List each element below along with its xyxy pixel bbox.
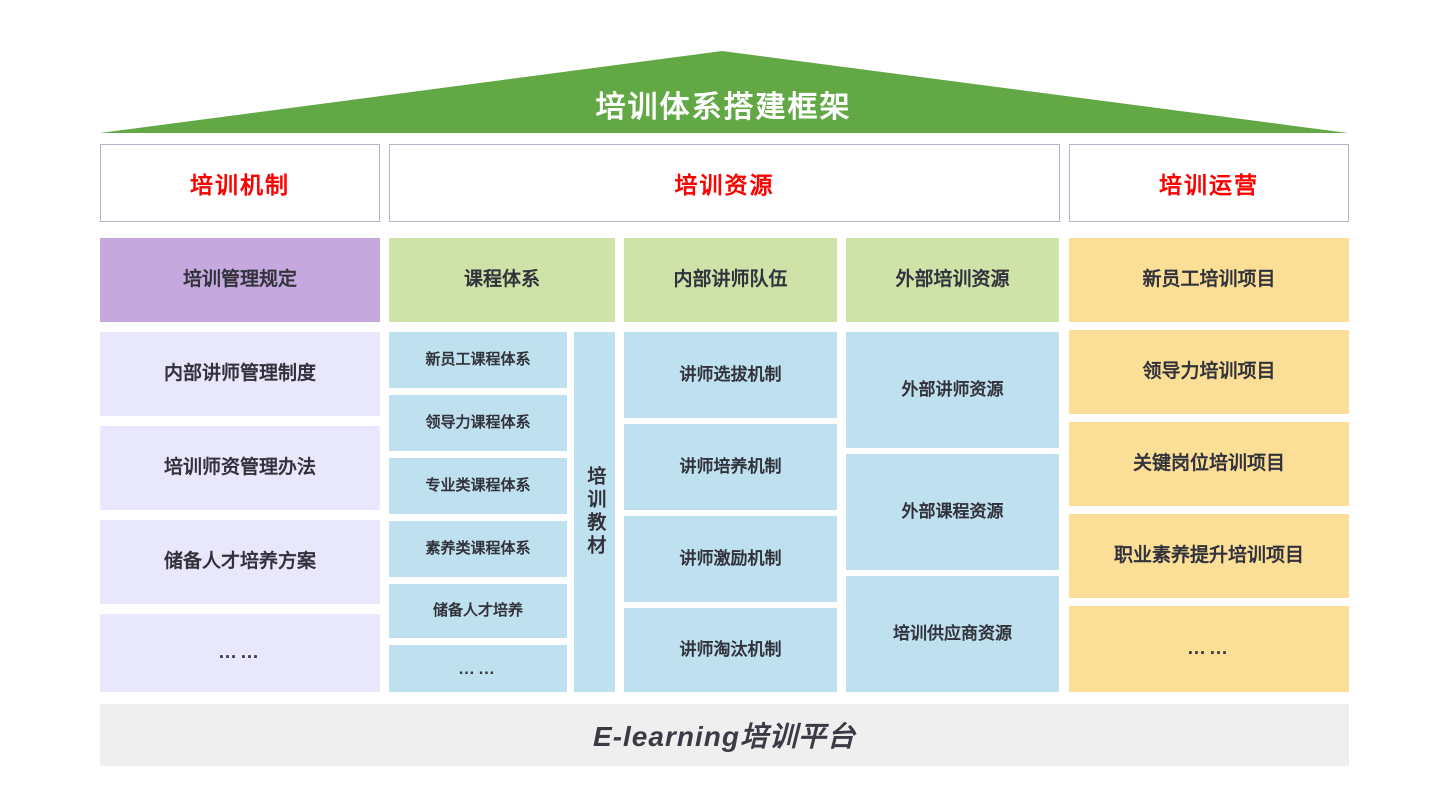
external-resources-item-0-label: 外部讲师资源 xyxy=(902,379,1004,400)
mechanism-item-2[interactable]: 培训师资管理办法 xyxy=(100,426,380,510)
course-system-header[interactable]: 课程体系 xyxy=(389,238,615,322)
mechanism-item-1[interactable]: 内部讲师管理制度 xyxy=(100,332,380,416)
course-system-item-5[interactable]: …… xyxy=(389,645,567,692)
operations-item-4[interactable]: …… xyxy=(1069,606,1349,692)
operations-item-1-label: 领导力培训项目 xyxy=(1142,360,1275,384)
mechanism-item-0-label: 培训管理规定 xyxy=(183,268,297,292)
external-resources-item-1[interactable]: 外部课程资源 xyxy=(846,454,1059,570)
internal-trainers-item-3-label: 讲师淘汰机制 xyxy=(680,639,782,660)
mechanism-item-1-label: 内部讲师管理制度 xyxy=(164,362,316,386)
internal-trainers-item-2[interactable]: 讲师激励机制 xyxy=(624,516,837,602)
internal-trainers-header-label: 内部讲师队伍 xyxy=(673,268,787,292)
header-box-mechanism[interactable]: 培训机制 xyxy=(100,144,380,222)
internal-trainers-header[interactable]: 内部讲师队伍 xyxy=(624,238,837,322)
external-resources-header-label: 外部培训资源 xyxy=(895,268,1009,292)
operations-item-2[interactable]: 关键岗位培训项目 xyxy=(1069,422,1349,506)
internal-trainers-item-2-label: 讲师激励机制 xyxy=(680,548,782,569)
external-resources-item-2[interactable]: 培训供应商资源 xyxy=(846,576,1059,692)
operations-item-0[interactable]: 新员工培训项目 xyxy=(1069,238,1349,322)
course-system-item-2-label: 专业类课程体系 xyxy=(425,477,530,496)
page-title: 培训体系搭建框架 xyxy=(0,82,1447,126)
course-system-item-3[interactable]: 素养类课程体系 xyxy=(389,521,567,577)
mechanism-item-4[interactable]: …… xyxy=(100,614,380,692)
internal-trainers-item-0[interactable]: 讲师选拔机制 xyxy=(624,332,837,418)
header-box-operations[interactable]: 培训运营 xyxy=(1069,144,1349,222)
external-resources-header[interactable]: 外部培训资源 xyxy=(846,238,1059,322)
course-system-item-1[interactable]: 领导力课程体系 xyxy=(389,395,567,451)
header-label-operations: 培训运营 xyxy=(1159,166,1259,200)
course-system-item-4[interactable]: 储备人才培养 xyxy=(389,584,567,638)
course-system-item-0[interactable]: 新员工课程体系 xyxy=(389,332,567,388)
elearning-platform-bar[interactable]: E-learning培训平台 xyxy=(100,704,1349,766)
mechanism-item-4-label: …… xyxy=(218,641,262,665)
mechanism-item-3-label: 储备人才培养方案 xyxy=(164,550,316,574)
course-system-item-0-label: 新员工课程体系 xyxy=(425,351,530,370)
operations-item-2-label: 关键岗位培训项目 xyxy=(1133,452,1285,476)
operations-item-3[interactable]: 职业素养提升培训项目 xyxy=(1069,514,1349,598)
operations-item-4-label: …… xyxy=(1187,637,1231,661)
course-system-header-label: 课程体系 xyxy=(464,268,540,292)
header-box-resources[interactable]: 培训资源 xyxy=(389,144,1060,222)
training-materials-side-block[interactable]: 培训教材 xyxy=(574,332,615,692)
course-system-item-4-label: 储备人才培养 xyxy=(433,602,523,621)
course-system-item-5-label: …… xyxy=(458,658,498,679)
external-resources-item-0[interactable]: 外部讲师资源 xyxy=(846,332,1059,448)
internal-trainers-item-1[interactable]: 讲师培养机制 xyxy=(624,424,837,510)
mechanism-item-2-label: 培训师资管理办法 xyxy=(164,456,316,480)
internal-trainers-item-1-label: 讲师培养机制 xyxy=(680,456,782,477)
course-system-item-2[interactable]: 专业类课程体系 xyxy=(389,458,567,514)
elearning-platform-label: E-learning培训平台 xyxy=(593,715,856,755)
course-system-item-3-label: 素养类课程体系 xyxy=(425,540,530,559)
operations-item-1[interactable]: 领导力培训项目 xyxy=(1069,330,1349,414)
diagram-canvas: 培训体系搭建框架 培训机制 培训资源 培训运营 培训管理规定 内部讲师管理制度 … xyxy=(0,0,1447,800)
course-system-item-1-label: 领导力课程体系 xyxy=(425,414,530,433)
header-label-mechanism: 培训机制 xyxy=(190,166,290,200)
external-resources-item-2-label: 培训供应商资源 xyxy=(893,623,1012,644)
training-materials-label: 培训教材 xyxy=(583,466,607,558)
external-resources-item-1-label: 外部课程资源 xyxy=(902,501,1004,522)
operations-item-0-label: 新员工培训项目 xyxy=(1142,268,1275,292)
operations-item-3-label: 职业素养提升培训项目 xyxy=(1114,544,1304,568)
mechanism-item-0[interactable]: 培训管理规定 xyxy=(100,238,380,322)
mechanism-item-3[interactable]: 储备人才培养方案 xyxy=(100,520,380,604)
internal-trainers-item-0-label: 讲师选拔机制 xyxy=(680,364,782,385)
header-label-resources: 培训资源 xyxy=(675,166,775,200)
internal-trainers-item-3[interactable]: 讲师淘汰机制 xyxy=(624,608,837,692)
